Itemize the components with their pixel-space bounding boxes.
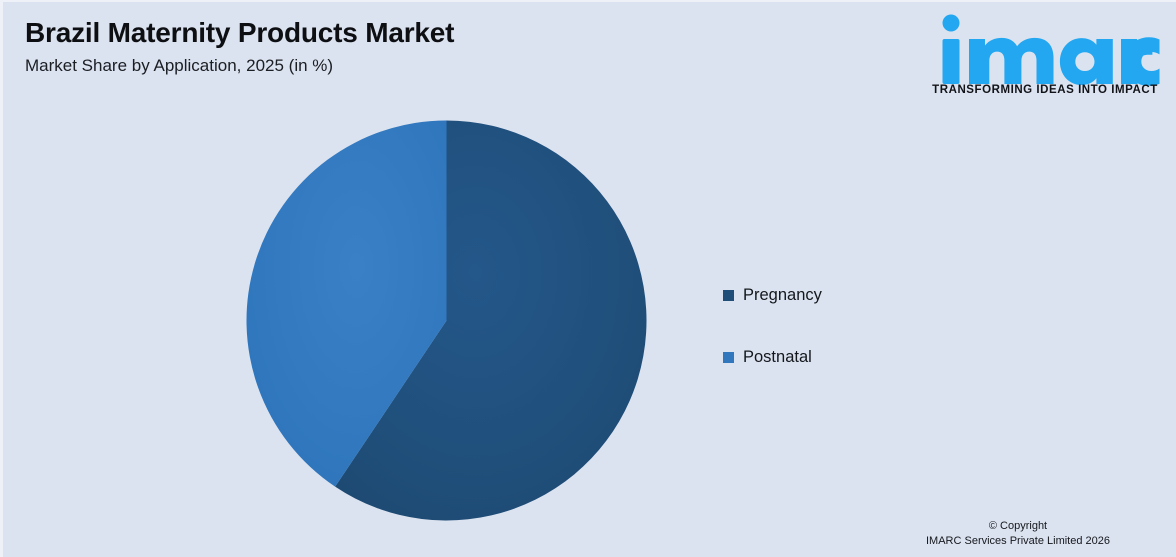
legend-item-pregnancy[interactable]: Pregnancy [723,280,983,310]
pie-chart-svg [246,120,647,521]
legend-swatch-icon [723,290,734,301]
legend-label: Postnatal [743,347,812,367]
page-title: Brazil Maternity Products Market [25,16,725,50]
imarc-wordmark-icon [925,10,1165,88]
chart-subtitle: Market Share by Application, 2025 (in %) [25,54,725,78]
chart-canvas: Brazil Maternity Products Market Market … [0,0,1176,557]
legend-swatch-icon [723,352,734,363]
chart-legend: Pregnancy Postnatal [723,280,983,404]
logo-tagline: TRANSFORMING IDEAS INTO IMPACT [920,84,1170,96]
legend-label: Pregnancy [743,285,822,305]
copyright-line-1: © Copyright [868,519,1168,534]
legend-item-postnatal[interactable]: Postnatal [723,342,983,372]
chart-header: Brazil Maternity Products Market Market … [25,16,725,78]
copyright-line-2: IMARC Services Private Limited 2026 [868,534,1168,549]
imarc-logo: TRANSFORMING IDEAS INTO IMPACT [920,10,1170,96]
pie-chart [246,120,647,521]
copyright-block: © Copyright IMARC Services Private Limit… [868,519,1168,549]
